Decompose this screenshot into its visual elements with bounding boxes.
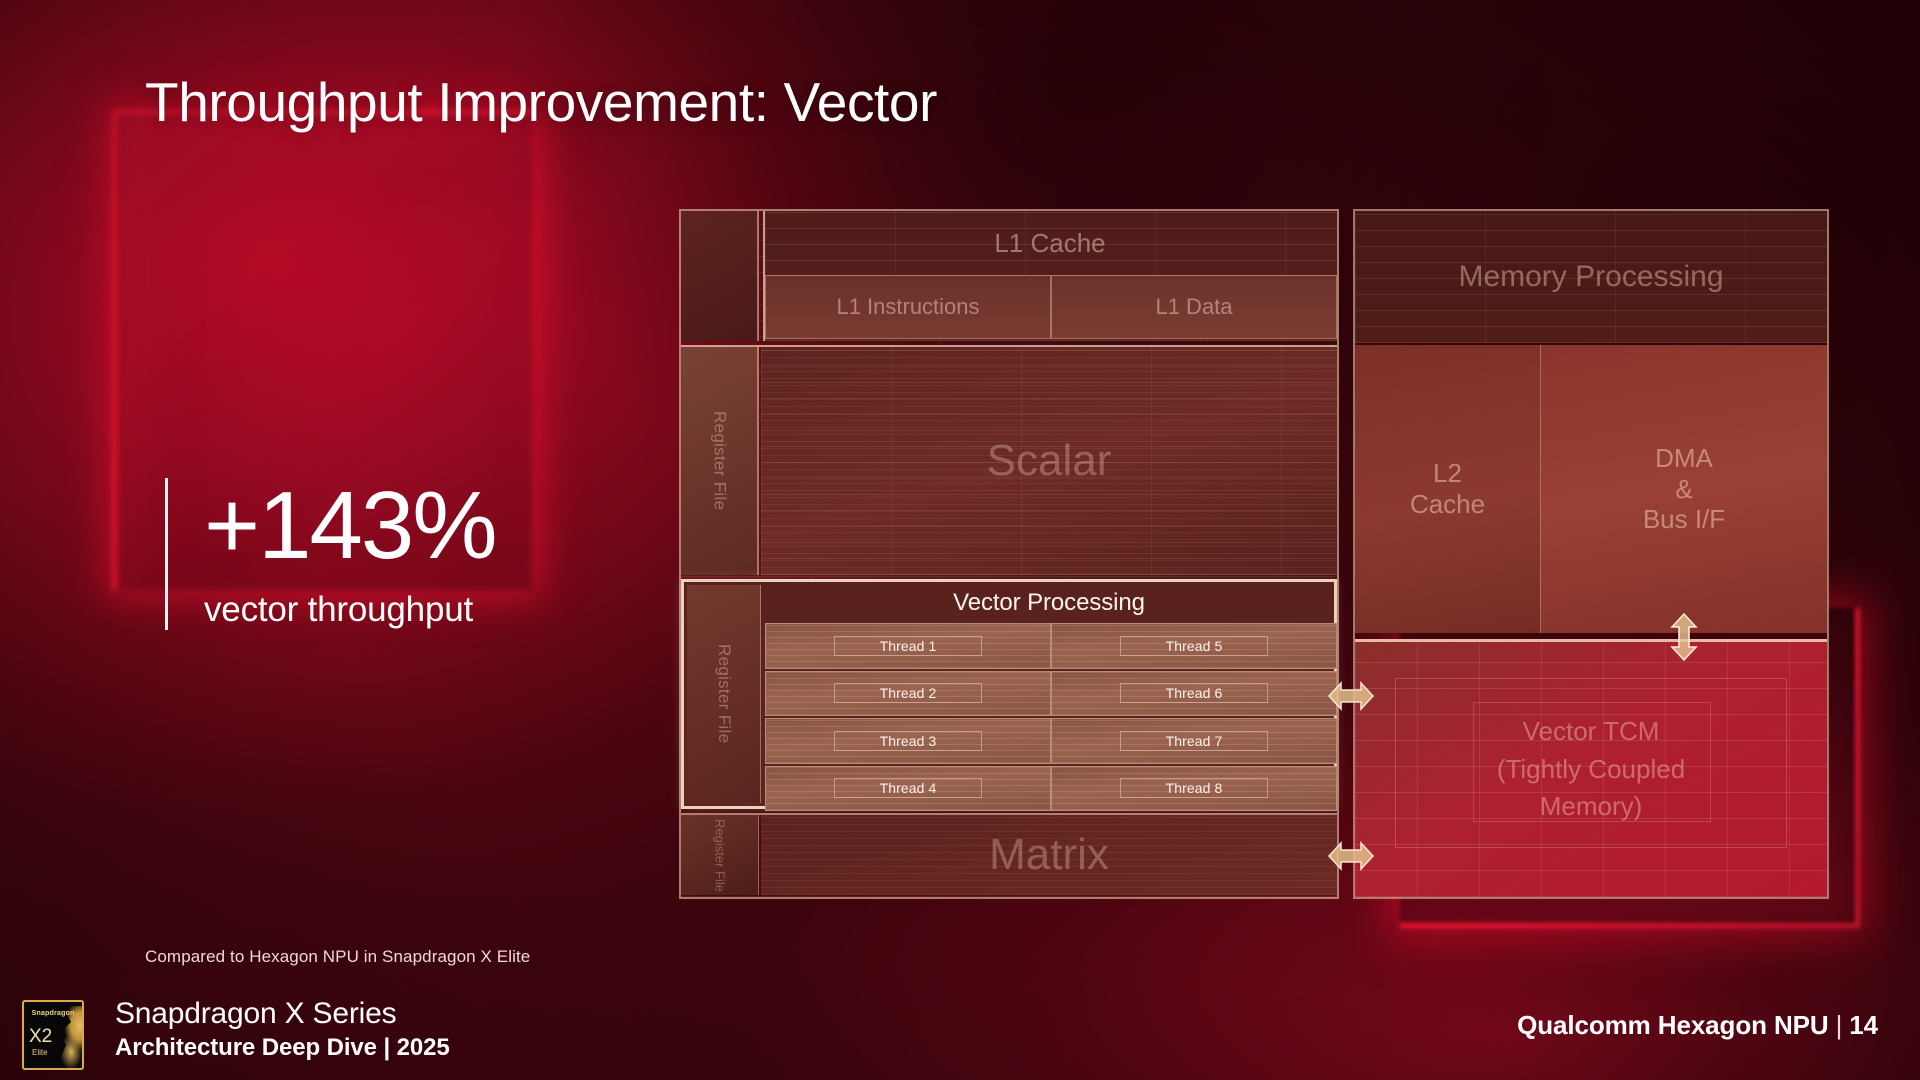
l2-cache-label-line2: Cache bbox=[1410, 489, 1485, 520]
badge-mid-label: X2 bbox=[29, 1027, 52, 1046]
vector-tcm-block: Vector TCM (Tightly Coupled Memory) bbox=[1355, 639, 1827, 897]
thread-label: Thread 4 bbox=[880, 780, 937, 796]
footer-brand-line2: Architecture Deep Dive | 2025 bbox=[115, 1032, 450, 1063]
dma-label-line2: & bbox=[1675, 474, 1692, 505]
vector-processing-label: Vector Processing bbox=[953, 589, 1145, 617]
scalar-register-file-label: Register File bbox=[710, 411, 729, 510]
stat-text-group: +143% vector throughput bbox=[204, 478, 496, 630]
thread-cell: Thread 5 bbox=[1051, 623, 1337, 669]
thread-inner-box: Thread 3 bbox=[834, 731, 982, 751]
thread-inner-box: Thread 4 bbox=[834, 778, 982, 798]
thread-label: Thread 3 bbox=[880, 733, 937, 749]
memory-processing-label: Memory Processing bbox=[1458, 259, 1723, 294]
thread-label: Thread 5 bbox=[1166, 638, 1223, 654]
vector-processing-header: Vector Processing bbox=[763, 583, 1335, 623]
thread-label: Thread 6 bbox=[1166, 685, 1223, 701]
vtcm-inner-box-inner bbox=[1473, 702, 1711, 822]
thread-cell: Thread 7 bbox=[1051, 718, 1337, 764]
thread-cell: Thread 6 bbox=[1051, 671, 1337, 717]
thread-inner-box: Thread 7 bbox=[1120, 731, 1268, 751]
matrix-register-file-label: Register File bbox=[712, 819, 726, 892]
scalar-register-file: Register File bbox=[681, 347, 759, 575]
thread-cell: Thread 4 bbox=[765, 766, 1051, 812]
slide-title: Throughput Improvement: Vector bbox=[145, 70, 937, 134]
matrix-to-memory-arrow-icon bbox=[1327, 839, 1375, 873]
thread-cell: Thread 1 bbox=[765, 623, 1051, 669]
matrix-label: Matrix bbox=[989, 829, 1109, 881]
thread-inner-box: Thread 6 bbox=[1120, 683, 1268, 703]
scalar-label: Scalar bbox=[987, 435, 1112, 487]
matrix-circuit-texture bbox=[761, 815, 1337, 895]
footer-brand-line1: Snapdragon X Series bbox=[115, 995, 450, 1032]
vector-register-file-label: Register File bbox=[714, 644, 733, 743]
thread-label: Thread 8 bbox=[1166, 780, 1223, 796]
thread-cell: Thread 8 bbox=[1051, 766, 1337, 812]
badge-sub-label: Elite bbox=[32, 1048, 48, 1057]
dma-to-vtcm-arrow-icon bbox=[1669, 612, 1699, 662]
thread-cell: Thread 3 bbox=[765, 718, 1051, 764]
l1-cache-label-wrap: L1 Cache bbox=[763, 213, 1337, 273]
dma-label-line1: DMA bbox=[1655, 443, 1713, 474]
npu-architecture-diagram: L1 Cache L1 Instructions L1 Data Registe… bbox=[679, 209, 1829, 899]
footer-right-group: Qualcomm Hexagon NPU|14 bbox=[1517, 1010, 1878, 1041]
snapdragon-x2-elite-badge: Snapdragon X2 Elite bbox=[22, 1000, 84, 1070]
badge-top-label: Snapdragon bbox=[24, 1008, 82, 1017]
dma-bus-interface-block: DMA & Bus I/F bbox=[1541, 345, 1827, 633]
l1-data-label: L1 Data bbox=[1155, 294, 1232, 320]
l2-cache-label-line1: L2 bbox=[1433, 458, 1462, 489]
vector-to-memory-arrow-icon bbox=[1327, 679, 1375, 713]
footer-brand: Snapdragon X Series Architecture Deep Di… bbox=[115, 995, 450, 1063]
scalar-circuit-grid bbox=[761, 347, 1337, 575]
l1-instructions-label: L1 Instructions bbox=[836, 294, 979, 320]
thread-inner-box: Thread 8 bbox=[1120, 778, 1268, 798]
l1-data-block: L1 Data bbox=[1051, 275, 1337, 339]
vector-register-file: Register File bbox=[687, 585, 761, 803]
thread-cell: Thread 2 bbox=[765, 671, 1051, 717]
stat-label: vector throughput bbox=[204, 590, 496, 630]
thread-inner-box: Thread 2 bbox=[834, 683, 982, 703]
thread-label: Thread 2 bbox=[880, 685, 937, 701]
core-top-left-cell bbox=[681, 211, 759, 341]
thread-inner-box: Thread 5 bbox=[1120, 636, 1268, 656]
scalar-circuit-texture bbox=[761, 347, 1337, 575]
thread-inner-box: Thread 1 bbox=[834, 636, 982, 656]
matrix-unit-block: Matrix bbox=[761, 815, 1337, 895]
thread-label: Thread 7 bbox=[1166, 733, 1223, 749]
l1-cache-label: L1 Cache bbox=[994, 228, 1105, 259]
stat-accent-rule bbox=[165, 478, 168, 630]
memory-processing-block: Memory Processing bbox=[1355, 211, 1827, 343]
l2-cache-block: L2 Cache bbox=[1355, 345, 1541, 633]
page-number: 14 bbox=[1849, 1010, 1878, 1040]
stat-block: +143% vector throughput bbox=[165, 478, 496, 630]
thread-label: Thread 1 bbox=[880, 638, 937, 654]
stat-value: +143% bbox=[204, 478, 496, 574]
scalar-unit-block: Scalar bbox=[761, 347, 1337, 575]
footer-separator: | bbox=[1829, 1010, 1850, 1040]
footer-section-title: Qualcomm Hexagon NPU bbox=[1517, 1010, 1829, 1040]
l1-instructions-block: L1 Instructions bbox=[765, 275, 1051, 339]
dma-label-line3: Bus I/F bbox=[1643, 504, 1725, 535]
memory-processing-circuit-texture bbox=[1355, 211, 1827, 343]
slide-footnote: Compared to Hexagon NPU in Snapdragon X … bbox=[145, 947, 530, 967]
matrix-register-file: Register File bbox=[681, 815, 759, 895]
